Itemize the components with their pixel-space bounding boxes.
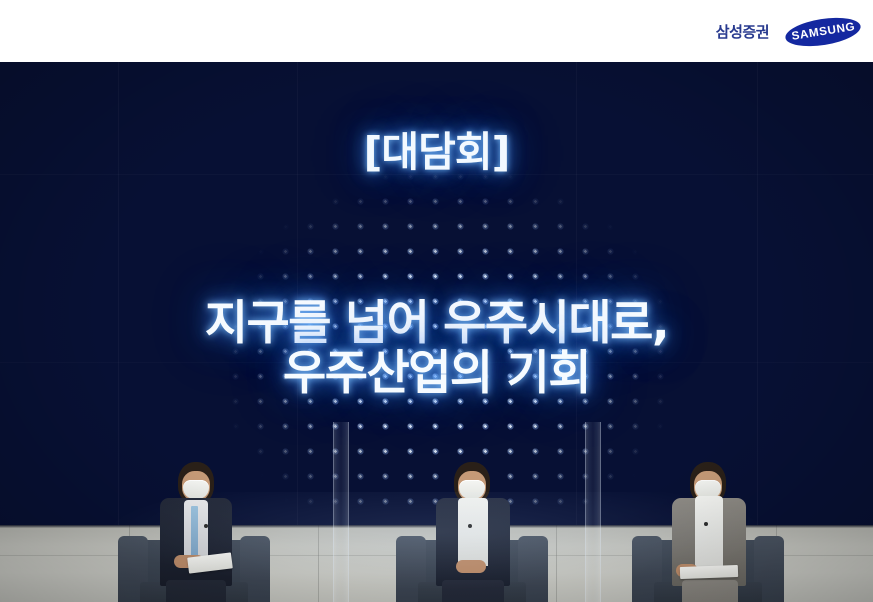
panelist-right-legs	[682, 580, 738, 602]
brand-logo-cluster: 삼성증권 SAMSUNG	[716, 19, 861, 45]
header-bar: 삼성증권 SAMSUNG	[0, 0, 873, 62]
panelist-left-legs	[166, 580, 226, 602]
panelist-center-face-mask	[459, 480, 485, 499]
event-kicker-text: [대담회]	[0, 118, 873, 178]
panelist-center-legs	[442, 580, 504, 602]
panelist-left-necktie	[191, 506, 198, 560]
screenshot-root: 삼성증권 SAMSUNG [대담회] 지구를 넘어 우주시대로, 우주산업의 기…	[0, 0, 873, 602]
panelist-left-face-mask	[183, 480, 209, 499]
acrylic-divider-right	[585, 422, 601, 602]
samsung-securities-wordmark: 삼성증권	[716, 25, 769, 40]
panelist-left-lapel-mic	[204, 524, 208, 528]
acrylic-divider-left	[333, 422, 349, 602]
samsung-logo-icon: SAMSUNG	[783, 13, 862, 51]
broadcast-video-frame: [대담회] 지구를 넘어 우주시대로, 우주산업의 기회	[0, 62, 873, 602]
panelist-right-documents	[680, 565, 738, 579]
samsung-logo-label: SAMSUNG	[790, 21, 855, 43]
panelist-right-shirt	[695, 496, 723, 568]
headline-line-2: 우주산업의 기회	[0, 334, 873, 403]
panelist-center-shirt	[458, 498, 488, 566]
panelist-center-hands-clasped	[456, 560, 486, 573]
panelist-center-lapel-mic	[468, 524, 472, 528]
panelist-right-lapel-mic	[704, 522, 708, 526]
